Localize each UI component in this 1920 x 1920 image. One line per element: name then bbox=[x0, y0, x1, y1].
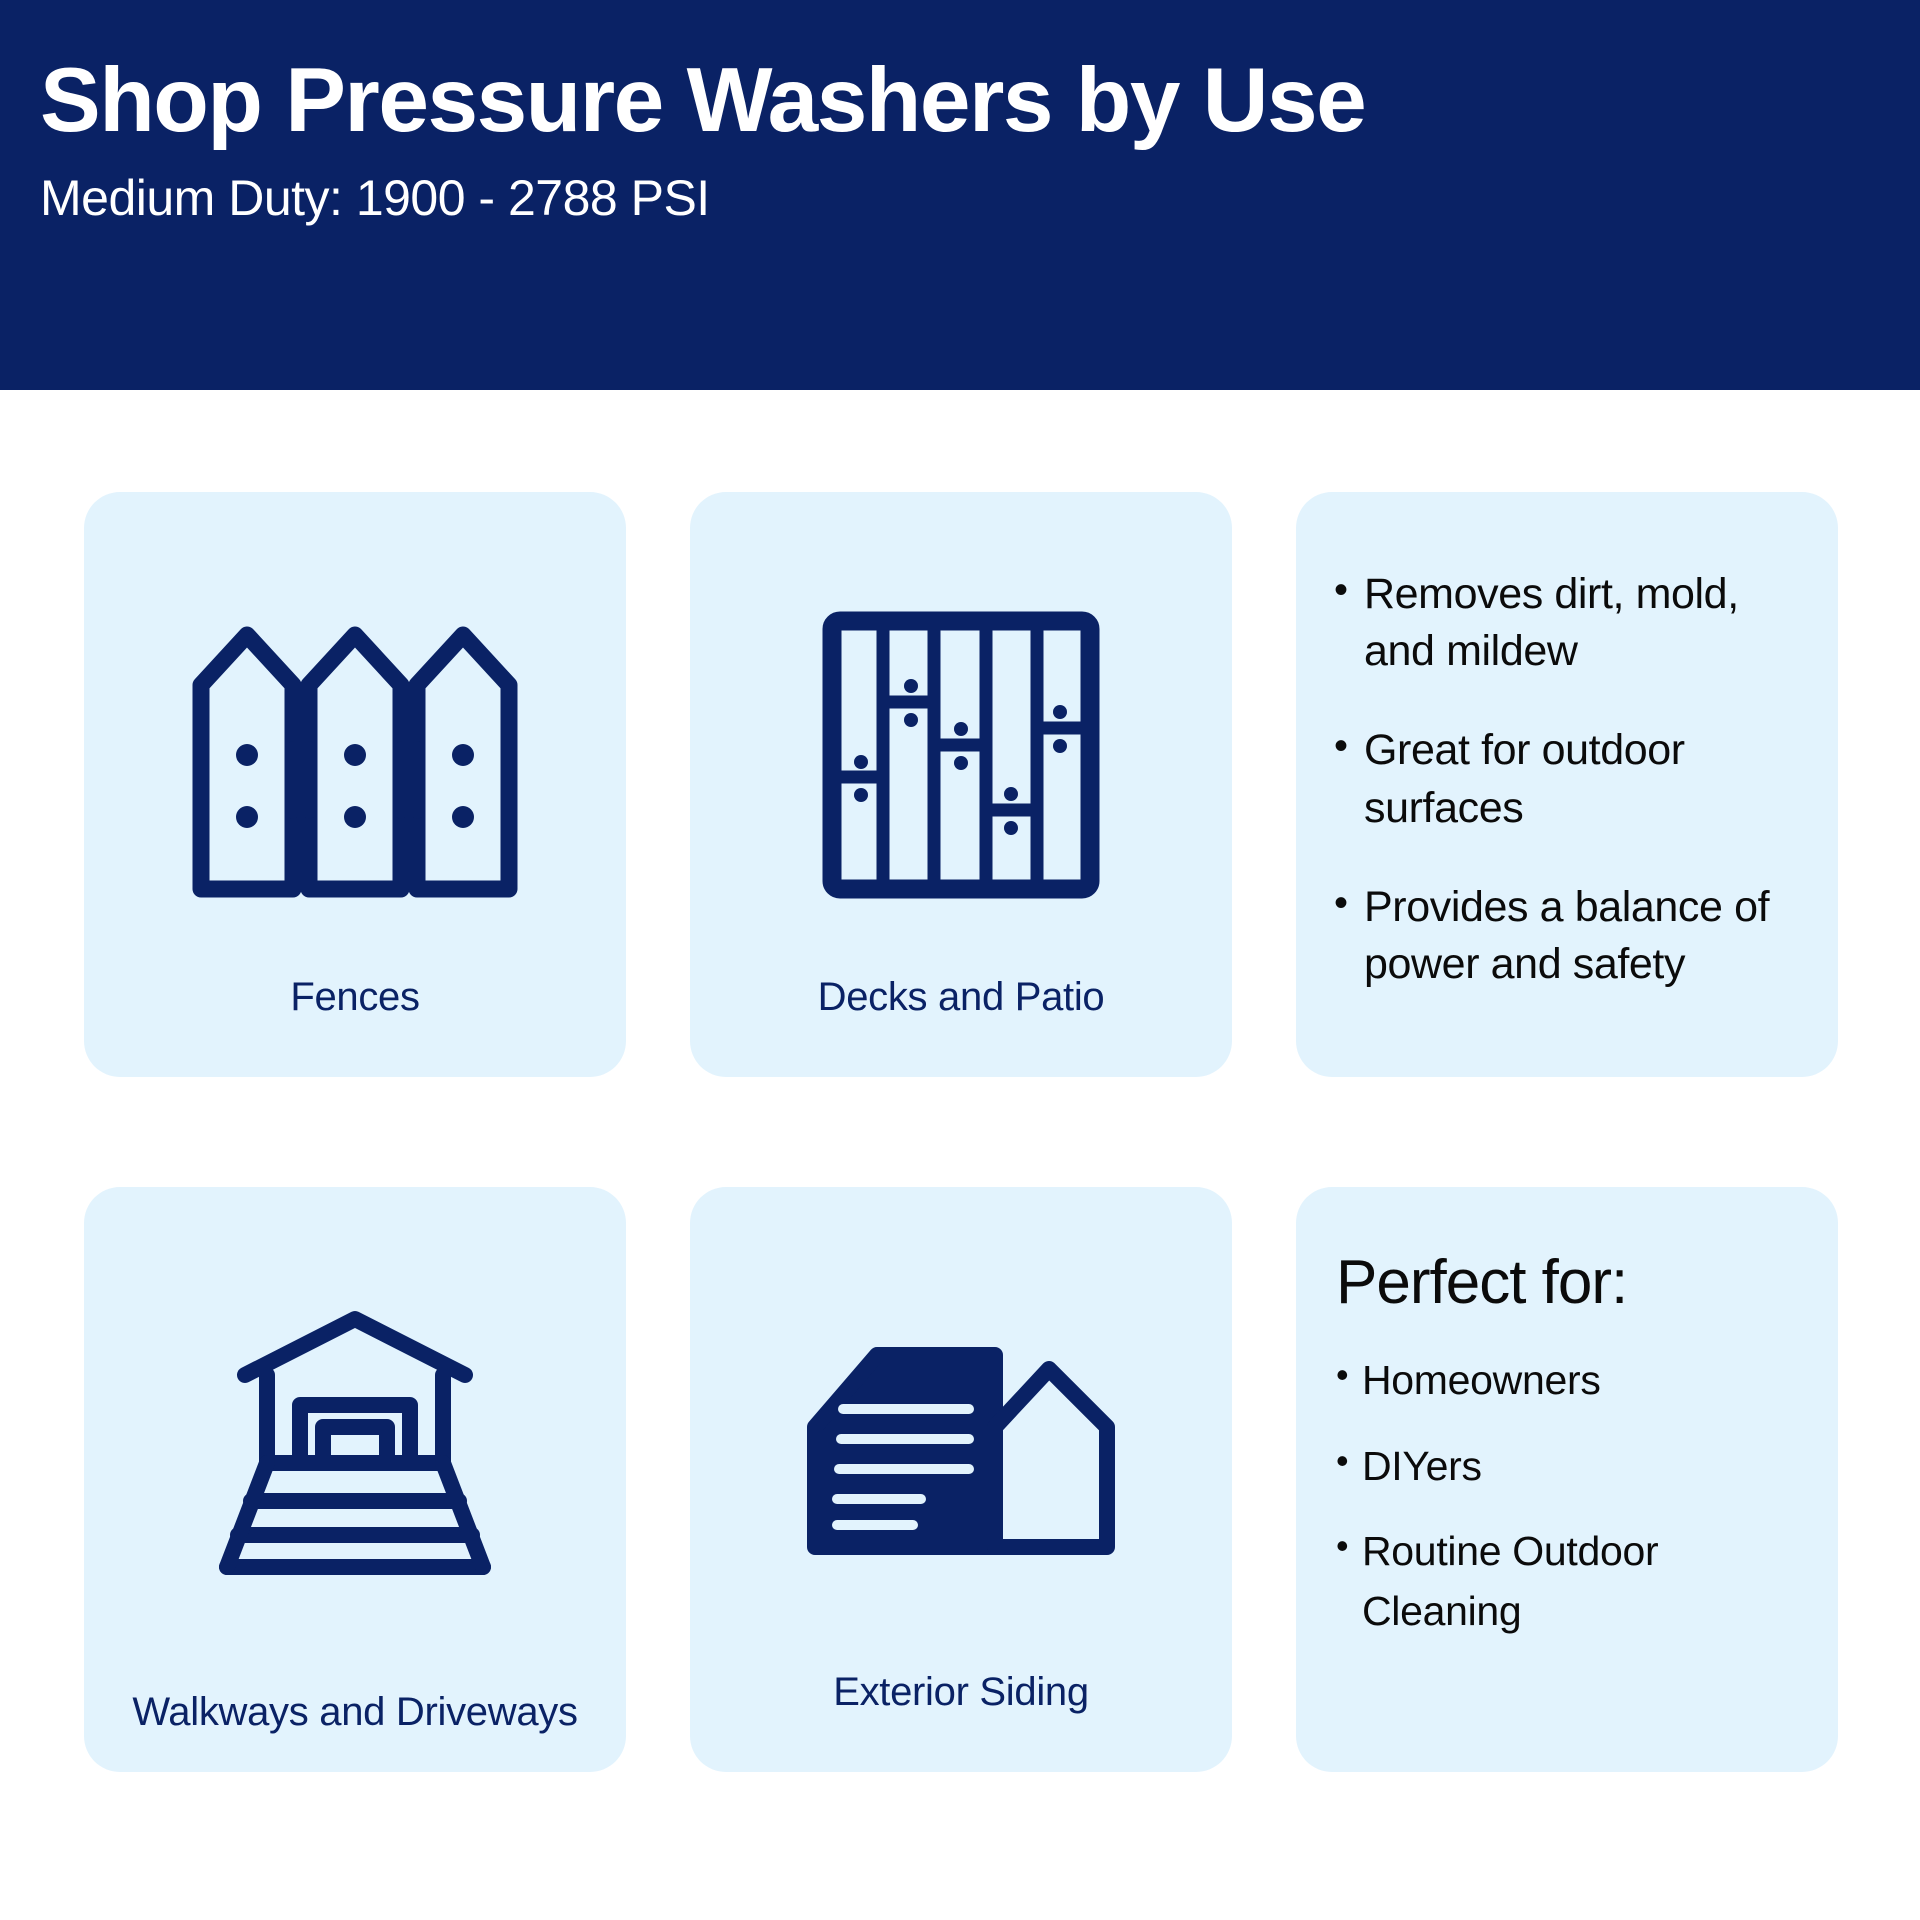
card-decks-patio[interactable]: Decks and Patio bbox=[690, 492, 1232, 1077]
garage-driveway-icon-wrap bbox=[84, 1295, 626, 1605]
list-item: DIYers bbox=[1326, 1437, 1798, 1496]
list-item: Provides a balance of power and safety bbox=[1326, 879, 1798, 993]
card-label-decks-patio: Decks and Patio bbox=[710, 972, 1212, 1023]
perfect-for-list: Homeowners DIYers Routine Outdoor Cleani… bbox=[1326, 1351, 1798, 1641]
card-exterior-siding[interactable]: Exterior Siding bbox=[690, 1187, 1232, 1772]
card-walkways-driveways[interactable]: Walkways and Driveways bbox=[84, 1187, 626, 1772]
house-siding-icon-wrap bbox=[690, 1295, 1232, 1605]
list-item: Routine Outdoor Cleaning bbox=[1326, 1522, 1798, 1641]
page-subtitle: Medium Duty: 1900 - 2788 PSI bbox=[40, 166, 1920, 231]
fence-icon-wrap bbox=[84, 600, 626, 910]
benefits-list: Removes dirt, mold, and mildew Great for… bbox=[1326, 566, 1798, 993]
fence-icon bbox=[185, 605, 525, 905]
garage-driveway-icon bbox=[205, 1305, 505, 1595]
perfect-for-heading: Perfect for: bbox=[1326, 1249, 1798, 1317]
page-header: Shop Pressure Washers by Use Medium Duty… bbox=[0, 0, 1920, 390]
card-perfect-for: Perfect for: Homeowners DIYers Routine O… bbox=[1296, 1187, 1838, 1772]
list-item: Removes dirt, mold, and mildew bbox=[1326, 566, 1798, 680]
deck-patio-icon-wrap bbox=[690, 600, 1232, 910]
card-fences[interactable]: Fences bbox=[84, 492, 626, 1077]
infographic-page: Shop Pressure Washers by Use Medium Duty… bbox=[0, 0, 1920, 1920]
deck-patio-icon bbox=[821, 610, 1101, 900]
list-item: Great for outdoor surfaces bbox=[1326, 722, 1798, 836]
card-label-fences: Fences bbox=[104, 972, 606, 1023]
card-label-walkways-driveways: Walkways and Driveways bbox=[104, 1687, 606, 1738]
house-siding-icon bbox=[801, 1335, 1121, 1565]
card-label-exterior-siding: Exterior Siding bbox=[710, 1667, 1212, 1718]
card-grid: Fences bbox=[84, 492, 1838, 1772]
list-item: Homeowners bbox=[1326, 1351, 1798, 1410]
page-title: Shop Pressure Washers by Use bbox=[40, 52, 1920, 150]
card-benefits: Removes dirt, mold, and mildew Great for… bbox=[1296, 492, 1838, 1077]
